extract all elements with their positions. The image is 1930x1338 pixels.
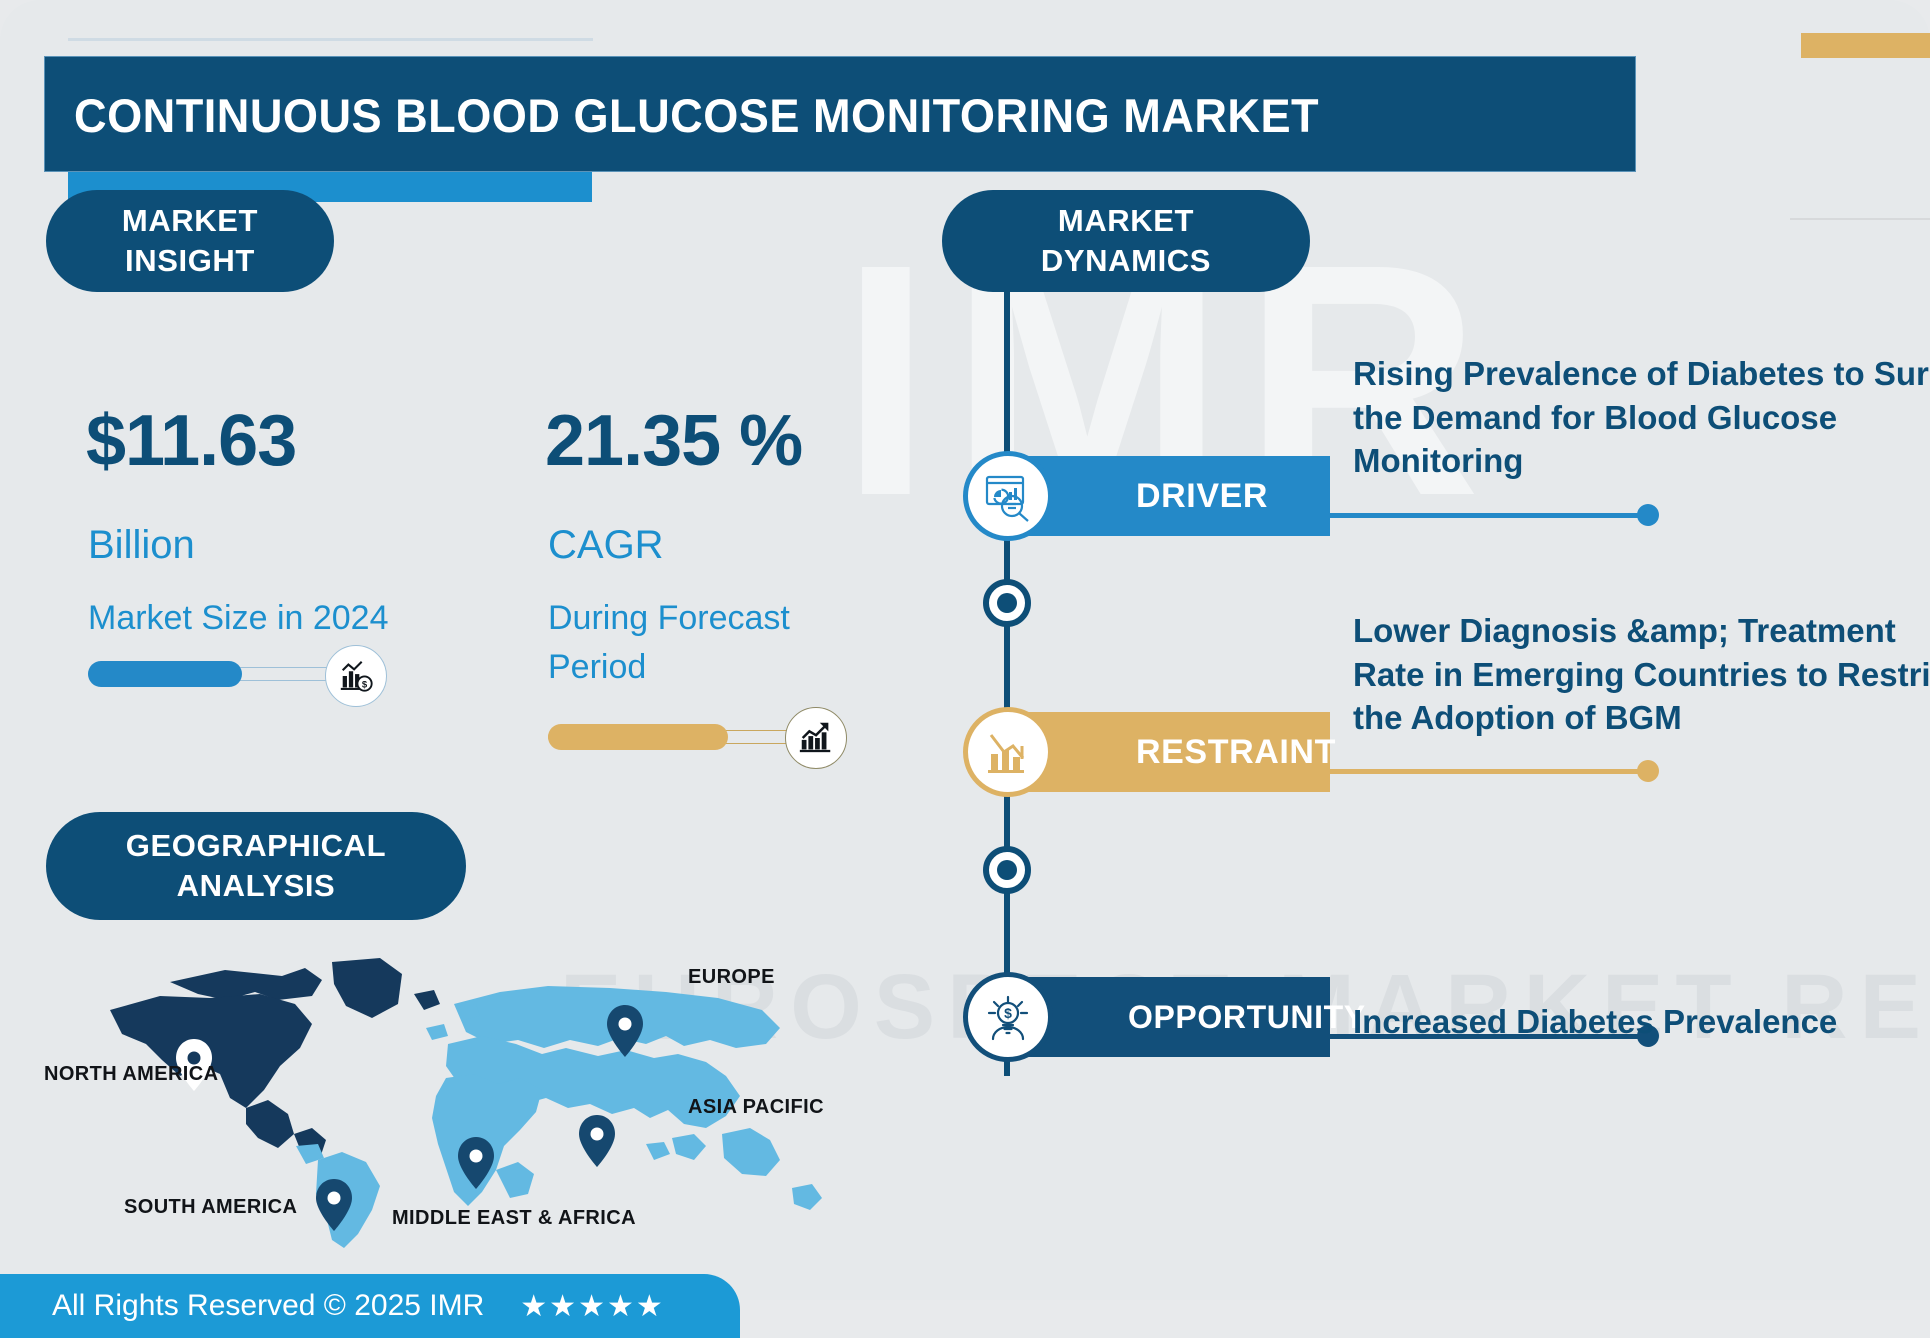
dynamics-bar-driver[interactable]: DRIVER — [1024, 456, 1330, 536]
timeline-node-dot-1 — [983, 579, 1031, 627]
map-label-middle-east-africa: MIDDLE EAST & AFRICA — [392, 1207, 636, 1230]
map-label-europe: EUROPE — [688, 966, 775, 989]
dynamics-label-restraint: RESTRAINT — [1136, 733, 1336, 772]
map-pin-asia-pacific — [579, 1115, 615, 1167]
footer-bar: All Rights Reserved © 2025 IMR ★★★★★ — [0, 1274, 740, 1338]
svg-text:$: $ — [362, 679, 368, 690]
section-heading-market-insight: MARKET INSIGHT — [46, 190, 334, 292]
timeline-node-dot-2 — [983, 846, 1031, 894]
dynamics-timeline-line — [1004, 288, 1010, 1076]
connector-driver — [1330, 513, 1650, 518]
decor-gold-tab — [1801, 33, 1930, 58]
section-heading-market-dynamics: MARKET DYNAMICS — [942, 190, 1310, 292]
cagr-progress-fill — [548, 724, 728, 750]
infographic-canvas: IMR EUROSPECT MARKET RESEARCH CONTINUOUS… — [0, 0, 1930, 1338]
decor-line-bottom-right — [1790, 218, 1930, 220]
cagr-progress-track — [548, 730, 816, 744]
market-insight-heading-text: MARKET INSIGHT — [122, 201, 258, 280]
dynamics-text-driver: Rising Prevalence of Diabetes to Surge t… — [1353, 352, 1930, 483]
dynamics-text-restraint: Lower Diagnosis &amp; Treatment Rate in … — [1353, 609, 1930, 740]
dynamics-bar-restraint[interactable]: RESTRAINT — [1024, 712, 1330, 792]
dynamics-label-opportunity: OPPORTUNITY — [1128, 999, 1366, 1036]
dashboard-magnifier-icon — [963, 451, 1053, 541]
declining-bar-chart-icon — [963, 707, 1053, 797]
chart-dollar-icon: $ — [325, 645, 387, 707]
map-label-south-america: SOUTH AMERICA — [124, 1196, 297, 1219]
market-dynamics-heading-text: MARKET DYNAMICS — [1041, 201, 1211, 280]
connector-restraint — [1330, 769, 1650, 774]
metric-cagr-subtitle: During Forecast Period — [548, 594, 838, 693]
dynamics-bar-opportunity[interactable]: OPPORTUNITY — [1024, 977, 1330, 1057]
connector-knob-restraint — [1637, 760, 1659, 782]
map-label-asia-pacific: ASIA PACIFIC — [688, 1096, 824, 1119]
market-size-progress-fill — [88, 661, 242, 687]
section-heading-geographical-analysis: GEOGRAPHICAL ANALYSIS — [46, 812, 466, 920]
dynamics-text-opportunity: Increased Diabetes Prevalence — [1353, 1000, 1930, 1044]
connector-knob-driver — [1637, 504, 1659, 526]
metric-market-size-subtitle: Market Size in 2024 — [88, 594, 389, 643]
metric-cagr-value: 21.35 % — [545, 400, 802, 482]
metric-market-size-unit: Billion — [88, 523, 195, 568]
metric-cagr-unit: CAGR — [548, 523, 664, 568]
lightbulb-dollar-icon: $ — [963, 972, 1053, 1062]
footer-copyright: All Rights Reserved © 2025 IMR — [52, 1289, 484, 1323]
svg-text:$: $ — [1004, 1005, 1012, 1021]
growth-arrow-icon — [785, 707, 847, 769]
dynamics-label-driver: DRIVER — [1136, 477, 1268, 516]
market-size-progress-track — [88, 667, 356, 681]
map-label-north-america: NORTH AMERICA — [44, 1063, 218, 1086]
map-pin-europe — [607, 1005, 643, 1057]
geo-heading-text: GEOGRAPHICAL ANALYSIS — [126, 826, 386, 905]
page-title: CONTINUOUS BLOOD GLUCOSE MONITORING MARK… — [74, 88, 1319, 143]
metric-market-size-value: $11.63 — [86, 400, 296, 482]
footer-star-rating: ★★★★★ — [520, 1289, 664, 1324]
decor-line-top-left — [68, 38, 593, 41]
